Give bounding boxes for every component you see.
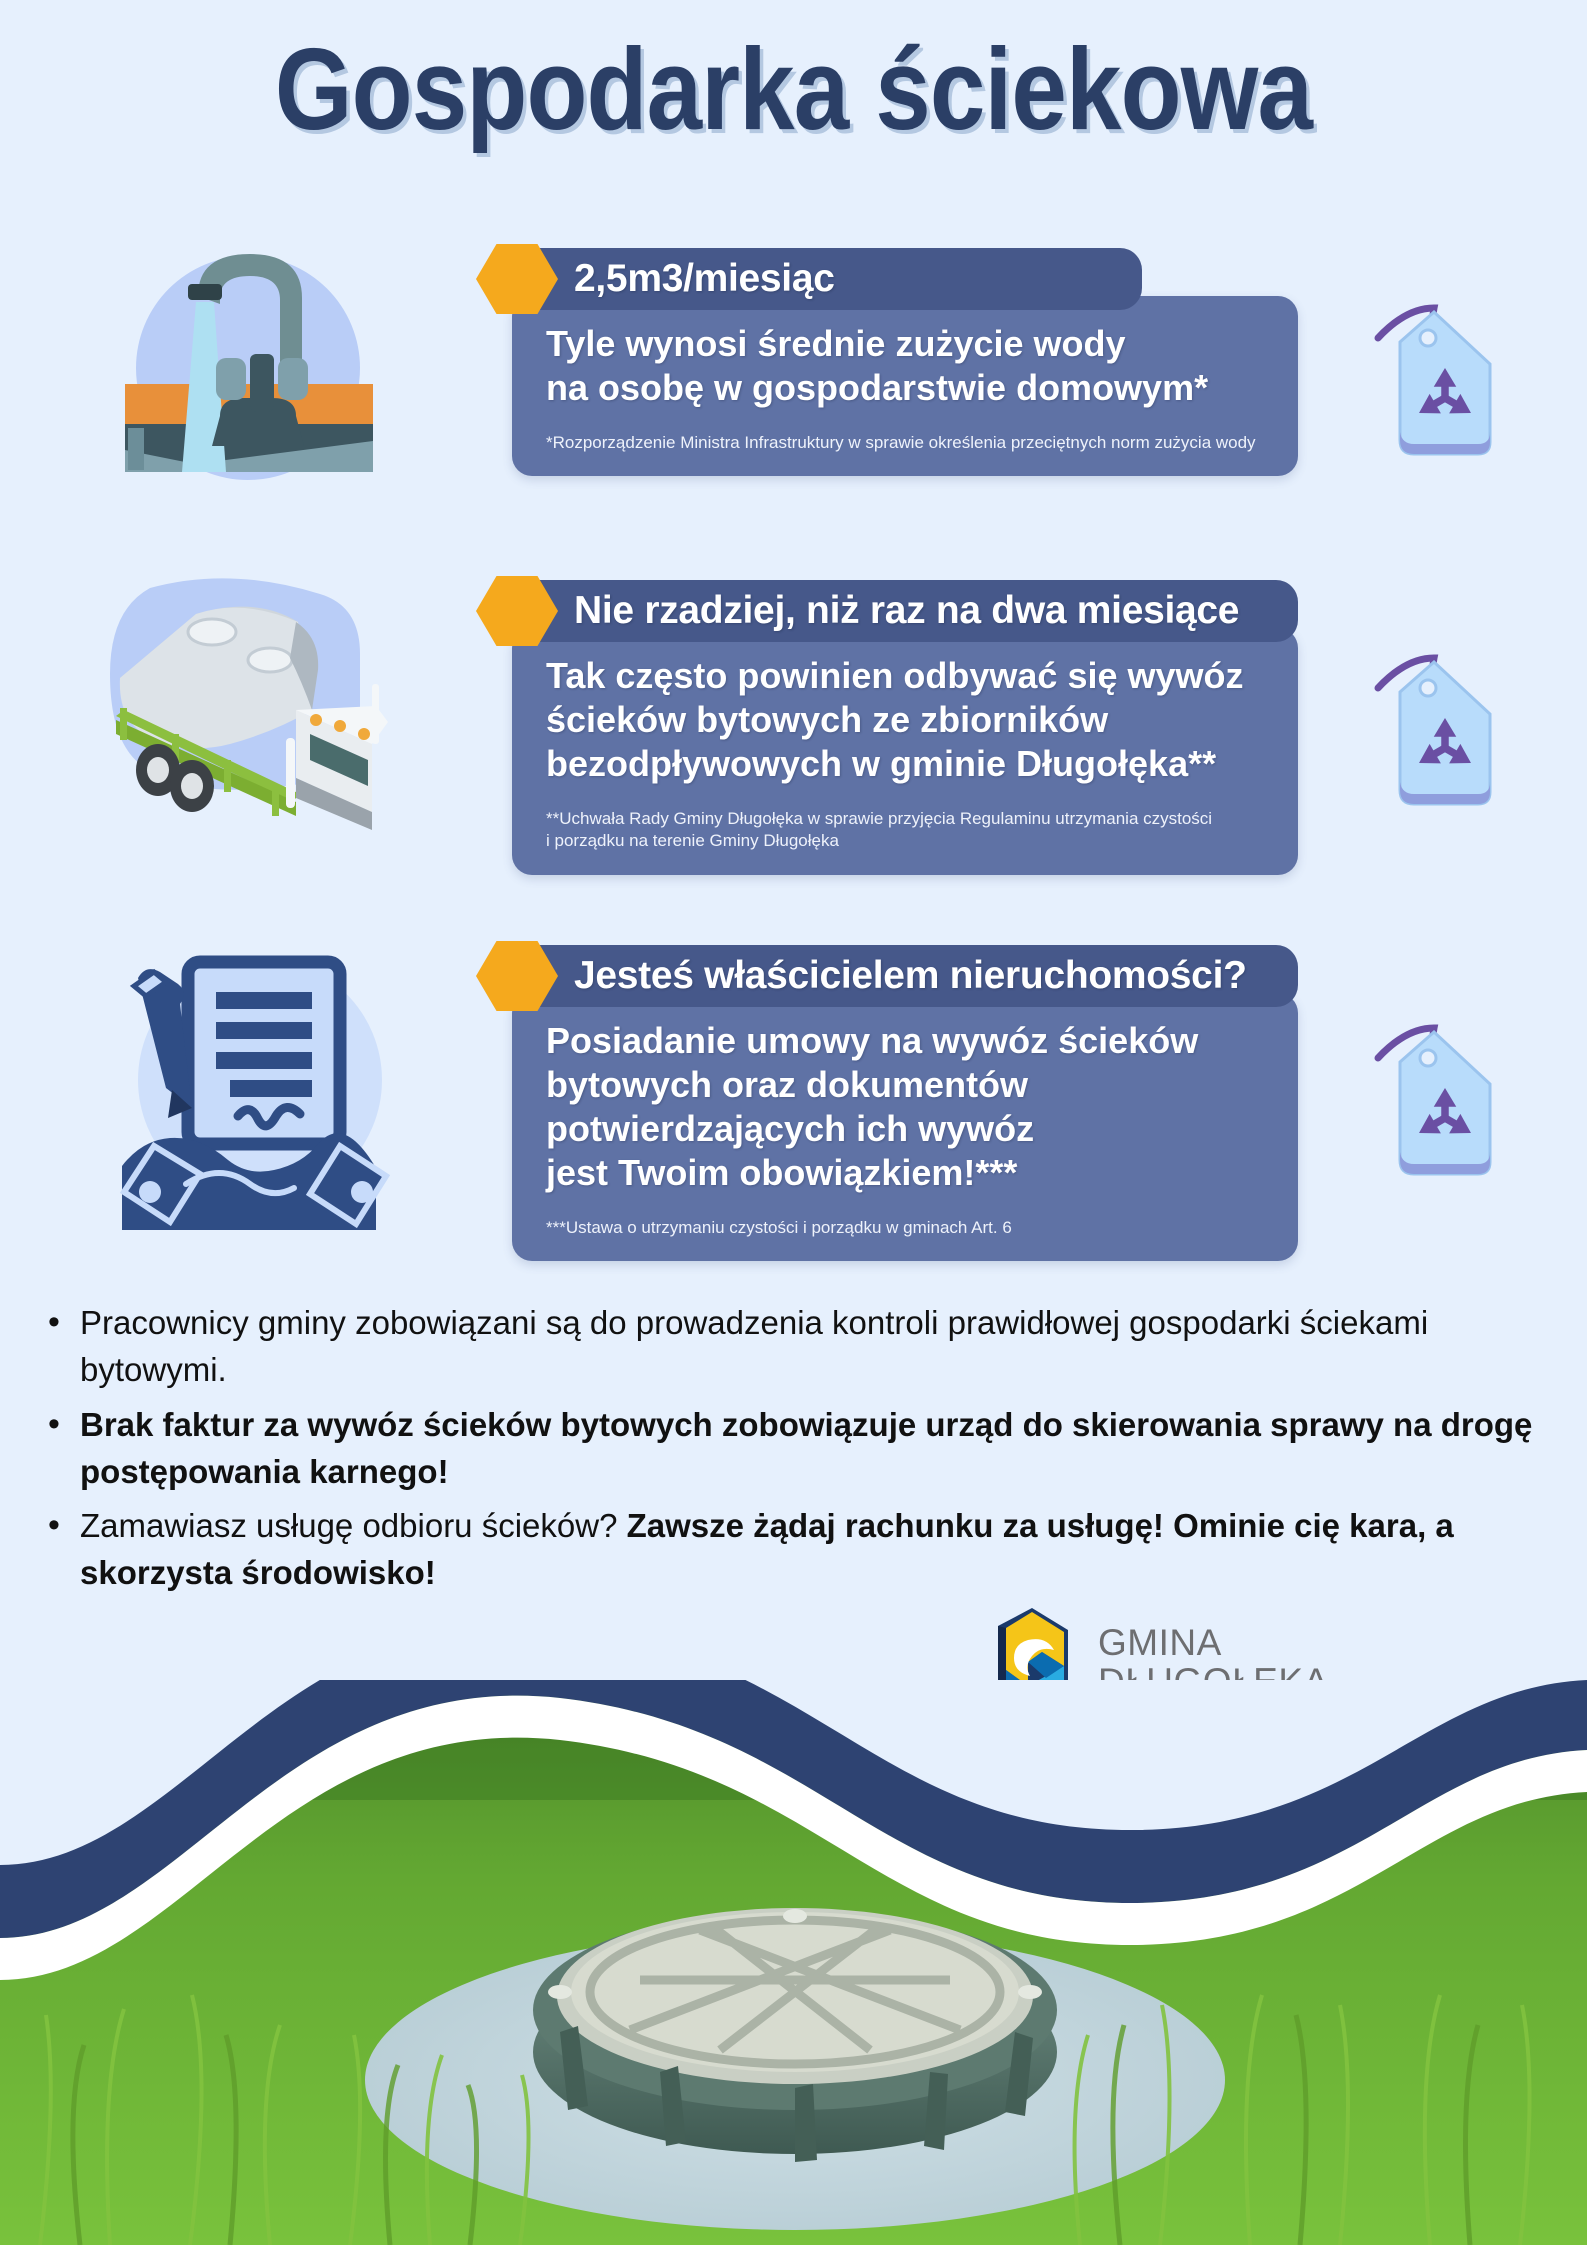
infographic-page: Gospodarka ściekowa <box>0 0 1587 2245</box>
card-1-body: Tyle wynosi średnie zużycie wody na osob… <box>512 296 1298 476</box>
page-title: Gospodarka ściekowa <box>111 22 1476 156</box>
hexagon-badge-icon <box>476 938 558 1014</box>
card-2-footnote: **Uchwała Rady Gminy Długołęka w sprawie… <box>546 808 1268 853</box>
card-1-heading: 2,5m3/miesiąc <box>574 257 835 301</box>
card-3-footnote: ***Ustawa o utrzymaniu czystości i porzą… <box>546 1217 1268 1239</box>
recycling-tag-icon <box>1370 640 1500 815</box>
decorative-wave-divider <box>0 1680 1587 2080</box>
bullet-1-text: Pracownicy gminy zobowiązani są do prowa… <box>80 1304 1428 1388</box>
card-1-text: Tyle wynosi średnie zużycie wody na osob… <box>546 322 1268 410</box>
bottom-photo-section <box>0 1680 1587 2245</box>
card-2-header: Nie rzadziej, niż raz na dwa miesiące <box>512 580 1298 642</box>
recycling-tag-icon <box>1370 1010 1500 1185</box>
list-item: Brak faktur za wywóz ścieków bytowych zo… <box>80 1402 1554 1496</box>
bullet-3-text-normal: Zamawiasz usługę odbioru ścieków? <box>80 1507 627 1544</box>
card-1-header: 2,5m3/miesiąc <box>512 248 1142 310</box>
card-2-heading: Nie rzadziej, niż raz na dwa miesiące <box>574 589 1239 633</box>
list-item: Zamawiasz usługę odbioru ścieków? Zawsze… <box>80 1503 1554 1597</box>
recycling-tag-icon <box>1370 290 1500 465</box>
card-3-heading: Jesteś właścicielem nieruchomości? <box>574 954 1247 998</box>
contract-handshake-illustration <box>100 930 400 1230</box>
sewage-tanker-truck-illustration <box>100 558 400 843</box>
info-card-2: Nie rzadziej, niż raz na dwa miesiące Ta… <box>512 580 1298 875</box>
card-2-body: Tak często powinien odbywać się wywóz śc… <box>512 628 1298 875</box>
hexagon-badge-icon <box>476 241 558 317</box>
hexagon-badge-icon <box>476 573 558 649</box>
card-3-body: Posiadanie umowy na wywóz ścieków bytowy… <box>512 993 1298 1261</box>
info-card-3: Jesteś właścicielem nieruchomości? Posia… <box>512 945 1298 1261</box>
faucet-running-water-illustration <box>100 236 380 496</box>
notice-bullet-list: Pracownicy gminy zobowiązani są do prowa… <box>34 1300 1554 1605</box>
list-item: Pracownicy gminy zobowiązani są do prowa… <box>80 1300 1554 1394</box>
card-2-text: Tak często powinien odbywać się wywóz śc… <box>546 654 1268 786</box>
card-3-header: Jesteś właścicielem nieruchomości? <box>512 945 1298 1007</box>
info-card-1: 2,5m3/miesiąc Tyle wynosi średnie zużyci… <box>512 248 1298 476</box>
card-3-text: Posiadanie umowy na wywóz ścieków bytowy… <box>546 1019 1268 1195</box>
card-1-footnote: *Rozporządzenie Ministra Infrastruktury … <box>546 432 1268 454</box>
bullet-2-text: Brak faktur za wywóz ścieków bytowych zo… <box>80 1406 1532 1490</box>
